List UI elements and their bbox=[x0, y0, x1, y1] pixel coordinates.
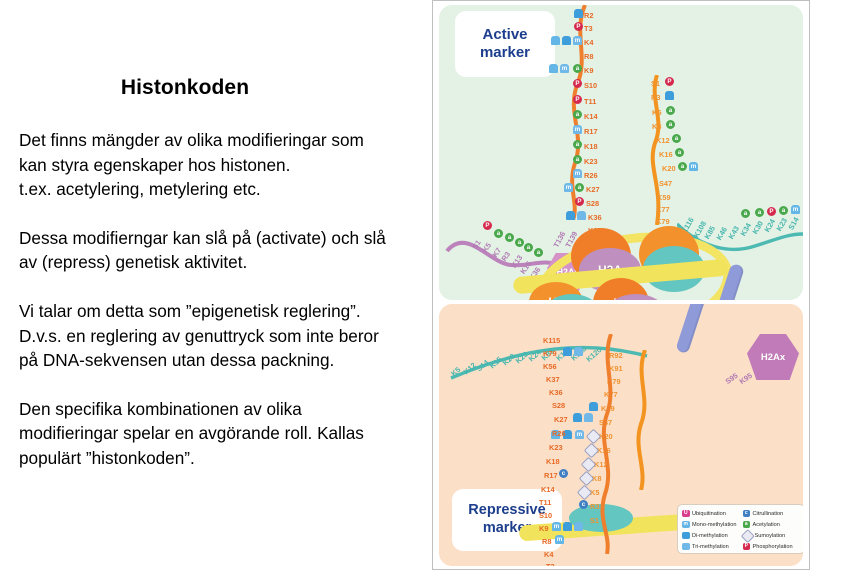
residue-h3-t3-r: T3 bbox=[546, 562, 555, 566]
residue-h3-r17: R17 bbox=[584, 127, 598, 136]
mod-ac-h2ak5: a bbox=[494, 229, 503, 238]
residue-h4-k8: K8 bbox=[652, 122, 661, 131]
residue-h3-t3: T3 bbox=[584, 24, 593, 33]
active-marker-label: Active marker bbox=[455, 11, 555, 77]
body-text: Det finns mängder av olika modifieringar… bbox=[19, 128, 431, 471]
active-marker-line1: Active bbox=[482, 26, 527, 44]
mod-ph-h3s28: P bbox=[575, 197, 584, 206]
tri-methylation-icon bbox=[682, 543, 690, 551]
text-column: Histonkoden Det finns mängder av olika m… bbox=[0, 0, 430, 582]
mod-me3-h3k79-r bbox=[574, 347, 583, 356]
page-title: Histonkoden bbox=[0, 76, 370, 100]
mod-me3-h3r26: m bbox=[573, 169, 582, 178]
legend-item-ubiquitination: U Ubiquitination bbox=[682, 508, 740, 519]
mod-me1-h3r8-r: m bbox=[555, 535, 564, 544]
residue-h3-k18-r: K18 bbox=[546, 457, 560, 466]
mod-ac-h4k8: a bbox=[666, 120, 675, 129]
repressive-marker-line1: Repressive bbox=[468, 502, 545, 520]
mod-ac-h2bk23: a bbox=[779, 206, 788, 215]
residue-h3-s28-r: S28 bbox=[552, 401, 565, 410]
paragraph-3: Vi talar om detta som ”epigenetisk regle… bbox=[19, 299, 431, 373]
paragraph-2: Dessa modifierngar kan slå på (activate)… bbox=[19, 226, 431, 275]
mod-me2-h3k27-r bbox=[573, 413, 582, 422]
modification-legend: U Ubiquitination c Citrullination m Mono… bbox=[677, 504, 803, 554]
mono-methylation-icon: m bbox=[682, 521, 690, 529]
h2ax-hexagon: H2Ax bbox=[747, 334, 799, 380]
residue-h3-k18: K18 bbox=[584, 142, 598, 151]
mod-me2-h4r3 bbox=[665, 91, 674, 100]
mod-ac-h3k18: a bbox=[573, 140, 582, 149]
mod-ac-h2ak7: a bbox=[505, 233, 514, 242]
residue-h3-k36-r: K36 bbox=[549, 388, 563, 397]
residue-h3-k23-r: K23 bbox=[549, 443, 563, 452]
mod-me1-h3k9-r: m bbox=[552, 522, 561, 531]
mod-ph-h3t11: P bbox=[573, 95, 582, 104]
residue-h4-k20: K20 bbox=[662, 164, 676, 173]
mod-me3-h3k27: m bbox=[564, 183, 573, 192]
legend-item-di-methylation: Di-methylation bbox=[682, 530, 740, 541]
mod-ph-h2bs14: P bbox=[767, 207, 776, 216]
mod-ci-h4r3-r: c bbox=[579, 500, 588, 509]
mod-me1-h3k4-a bbox=[551, 36, 560, 45]
mod-me3-h3k9-r bbox=[574, 522, 583, 531]
h4-tail-line-repressive bbox=[627, 350, 661, 490]
residue-h3-s28: S28 bbox=[586, 199, 599, 208]
ubiquitination-icon: U bbox=[682, 510, 690, 518]
residue-h3-k79-r: K79 bbox=[543, 349, 557, 358]
residue-h4-k16: K16 bbox=[659, 150, 673, 159]
mod-ph-h3t3: P bbox=[574, 22, 583, 31]
mod-me1-h3k9 bbox=[549, 64, 558, 73]
mod-ac-h4k16: a bbox=[675, 148, 684, 157]
legend-item-mono-methylation: m Mono-methylation bbox=[682, 519, 740, 530]
mod-ph-h2as1: P bbox=[483, 221, 492, 230]
residue-h4-k12: K12 bbox=[656, 136, 670, 145]
residue-h3-k9: K9 bbox=[584, 66, 593, 75]
residue-h4-s1: S1 bbox=[651, 79, 660, 88]
mod-me3-h3k27-r bbox=[584, 413, 593, 422]
residue-h3-r2: R2 bbox=[584, 11, 593, 20]
residue-h3-k27-r: K27 bbox=[554, 415, 568, 424]
residue-h3-k4: K4 bbox=[584, 38, 593, 47]
mod-ci-h3r17-r: c bbox=[559, 469, 568, 478]
mod-ac-h4k20: a bbox=[678, 162, 687, 171]
residue-h3-r8-r: R8 bbox=[542, 537, 551, 546]
legend-item-citrullination: c Citrullination bbox=[743, 508, 801, 519]
acetylation-icon: a bbox=[743, 521, 751, 529]
residue-h4-r3: R3 bbox=[651, 93, 660, 102]
legend-item-acetylation: a Acetylation bbox=[743, 519, 801, 530]
legend-item-tri-methylation: Tri-methylation bbox=[682, 541, 740, 552]
di-methylation-icon bbox=[682, 532, 690, 540]
residue-h3-k27: K27 bbox=[586, 185, 600, 194]
mod-ac-h4k5: a bbox=[666, 106, 675, 115]
residue-h4-k59: K59 bbox=[657, 193, 671, 202]
legend-item-sumoylation: Sumoylation bbox=[743, 530, 801, 541]
residue-h3-s10-r: S10 bbox=[539, 511, 552, 520]
residue-h3-k14: K14 bbox=[584, 112, 598, 121]
residue-h3-r17-r: R17 bbox=[544, 471, 558, 480]
mod-me1-h4k20: m bbox=[689, 162, 698, 171]
residue-h3-s10: S10 bbox=[584, 81, 597, 90]
mod-ac-h4k12: a bbox=[672, 134, 681, 143]
linker-histone-h1-repressive bbox=[675, 304, 711, 354]
mod-ac-h3k14: a bbox=[573, 110, 582, 119]
mod-ac-h2bk30: a bbox=[755, 208, 764, 217]
residue-h4-s47: S47 bbox=[659, 179, 672, 188]
mod-me2-h3k9-r bbox=[563, 522, 572, 531]
residue-h3-k37-r: K37 bbox=[546, 375, 560, 384]
citrullination-icon: c bbox=[743, 510, 751, 518]
mod-me3-h4k20-r: m bbox=[575, 430, 584, 439]
residue-h3-r26-r: R26 bbox=[552, 429, 566, 438]
mod-ac-h3k9: a bbox=[573, 64, 582, 73]
residue-h3-t11: T11 bbox=[584, 97, 596, 106]
residue-h3-k4-r: K4 bbox=[544, 550, 553, 559]
nucleosome-core-active: H3 H4 H2A H2B H4 H3 H2B H2A bbox=[527, 210, 747, 300]
slide: Histonkoden Det finns mängder av olika m… bbox=[0, 0, 848, 582]
residue-h3-t11-r: T11 bbox=[539, 498, 551, 507]
mod-me3-h3k9: m bbox=[560, 64, 569, 73]
residue-h4-k5: K5 bbox=[652, 108, 661, 117]
residue-h3-k9-r: K9 bbox=[539, 524, 548, 533]
phosphorylation-icon: P bbox=[743, 543, 751, 551]
residue-h3-k115-r: K115 bbox=[543, 336, 560, 345]
h3-tail-line-repressive bbox=[591, 334, 625, 554]
mod-me3-h3k4: m bbox=[573, 36, 582, 45]
mod-me2-h3r2 bbox=[574, 9, 583, 18]
residue-h3-k56-r: K56 bbox=[543, 362, 557, 371]
mod-me1-h2bk12: m bbox=[791, 205, 800, 214]
residue-h3-r26: R26 bbox=[584, 171, 598, 180]
repressive-marker-panel: Repressive marker K5 K12 S14 K15 K20 K23… bbox=[439, 304, 803, 566]
mod-me3-h3r17: m bbox=[573, 125, 582, 134]
residue-h3-k23: K23 bbox=[584, 157, 598, 166]
paragraph-4: Den specifika kombinationen av olikamodi… bbox=[19, 397, 431, 471]
mod-ph-h4s1: P bbox=[665, 77, 674, 86]
mod-ac-h3k27: a bbox=[575, 183, 584, 192]
legend-item-phosphorylation: P Phosphorylation bbox=[743, 541, 801, 552]
residue-h2ax-k95: K95 bbox=[738, 371, 754, 386]
residue-h3-r8: R8 bbox=[584, 52, 593, 61]
histone-modification-figure: Active marker R2 T3 P K4 m R8 K9 m a S10… bbox=[432, 0, 810, 570]
mod-ac-h2ar3: a bbox=[515, 238, 524, 247]
active-marker-line2: marker bbox=[480, 44, 530, 62]
paragraph-1: Det finns mängder av olika modifieringar… bbox=[19, 128, 431, 202]
mod-me2-h3k4 bbox=[562, 36, 571, 45]
mod-ph-h3s10: P bbox=[573, 79, 582, 88]
mod-ac-h3k23: a bbox=[573, 155, 582, 164]
mod-me2-h3k79-r bbox=[563, 347, 572, 356]
residue-h3-k14-r: K14 bbox=[541, 485, 555, 494]
active-marker-panel: Active marker R2 T3 P K4 m R8 K9 m a S10… bbox=[439, 5, 803, 300]
